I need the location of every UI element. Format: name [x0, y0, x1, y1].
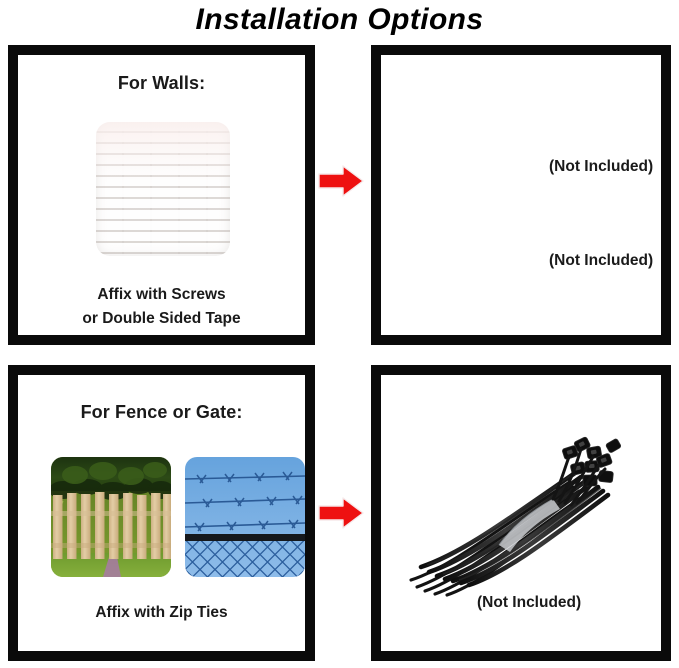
panel-for-walls-caption-line-2: or Double Sided Tape	[18, 307, 305, 331]
panel-for-walls-caption-line-1: Affix with Screws	[18, 283, 305, 307]
panel-zip-ties-content: (Not Included)	[381, 375, 661, 651]
panel-for-fence-caption: Affix with Zip Ties	[18, 601, 305, 625]
panel-for-fence-heading: For Fence or Gate:	[18, 402, 305, 423]
panel-zip-ties: (Not Included)	[371, 365, 671, 661]
red-right-arrow-icon-top	[318, 165, 364, 197]
panel-hardware: (Not Included)	[371, 45, 671, 345]
zip-ties-not-included-label: (Not Included)	[477, 594, 581, 612]
panel-hardware-content: (Not Included)	[381, 55, 661, 335]
red-right-arrow-icon-bottom	[318, 497, 364, 529]
wooden-picket-fence-photo	[51, 457, 171, 577]
screws-not-included-label: (Not Included)	[549, 252, 653, 270]
page-title: Installation Options	[0, 2, 679, 38]
zip-ties-bundle-image	[403, 417, 633, 602]
tape-not-included-label: (Not Included)	[549, 158, 653, 176]
panel-for-fence-or-gate: For Fence or Gate:	[8, 365, 315, 661]
panel-for-walls: For Walls: Affix with Screws or Double S…	[8, 45, 315, 345]
panel-for-walls-heading: For Walls:	[18, 73, 305, 94]
chain-link-fence-photo	[185, 457, 305, 577]
panel-for-walls-content: For Walls: Affix with Screws or Double S…	[18, 55, 305, 335]
white-brick-wall-image	[96, 122, 230, 256]
panel-for-fence-or-gate-content: For Fence or Gate:	[18, 375, 305, 651]
